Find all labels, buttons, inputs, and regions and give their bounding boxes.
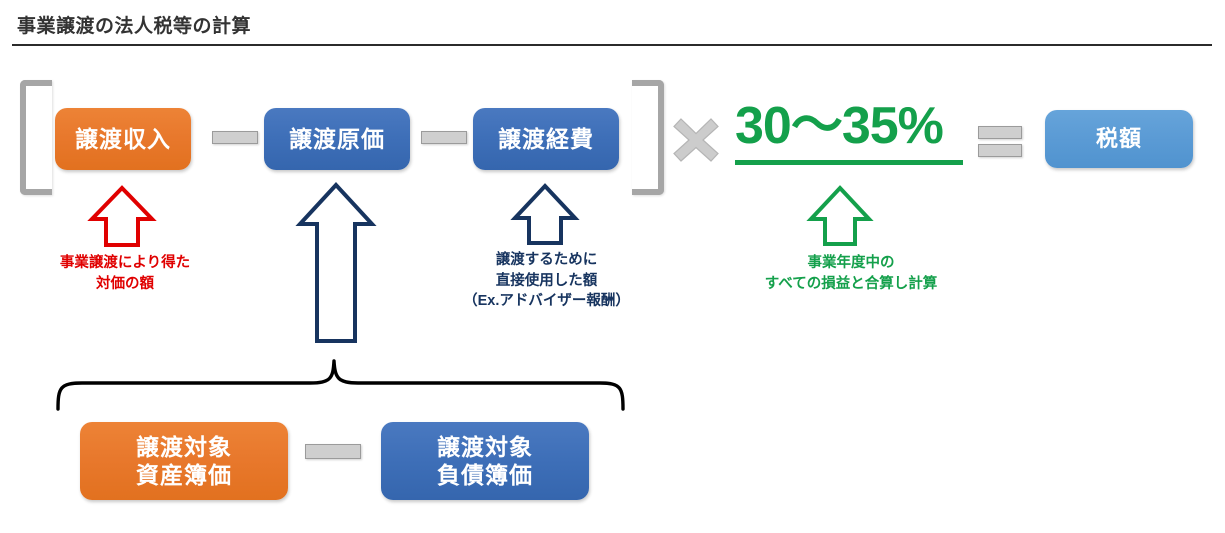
box-asset-book-value: 譲渡対象 資産簿価 [80,422,288,500]
box-transfer-expense: 譲渡経費 [473,108,619,170]
box-transfer-cost: 譲渡原価 [264,108,410,170]
note-transfer-income: 事業譲渡により得た 対価の額 [20,253,230,294]
note-tax-rate: 事業年度中の すべての損益と合算し計算 [740,253,962,294]
note-transfer-expense: 譲渡するために 直接使用した額 （Ex.アドバイザー報酬） [440,250,653,312]
arrow-up-icon-income [92,188,152,245]
arrow-up-icon-expense [515,186,575,243]
box-tax-amount: 税額 [1045,110,1193,168]
tax-rate-value: 30〜35% [735,100,943,152]
minus-operator-icon [212,131,258,144]
curly-brace-icon [58,361,623,409]
tax-rate-underline [735,160,963,165]
page-title: 事業譲渡の法人税等の計算 [17,11,251,38]
minus-operator-icon [305,444,361,459]
arrow-up-icon-rate [811,188,869,244]
box-transfer-income: 譲渡収入 [55,108,191,170]
equals-operator-icon [978,126,1022,153]
box-liability-book-value: 譲渡対象 負債簿価 [381,422,589,500]
bracket-right-icon [632,80,664,195]
multiply-icon [672,117,720,163]
diagram-canvas: 事業譲渡の法人税等の計算 譲渡収入 譲渡原価 譲渡経費 30〜35% 税額 [0,0,1225,533]
arrow-up-long-icon-cost [300,185,372,341]
minus-operator-icon [421,131,467,144]
bracket-left-icon [20,80,52,195]
title-divider [12,44,1212,46]
